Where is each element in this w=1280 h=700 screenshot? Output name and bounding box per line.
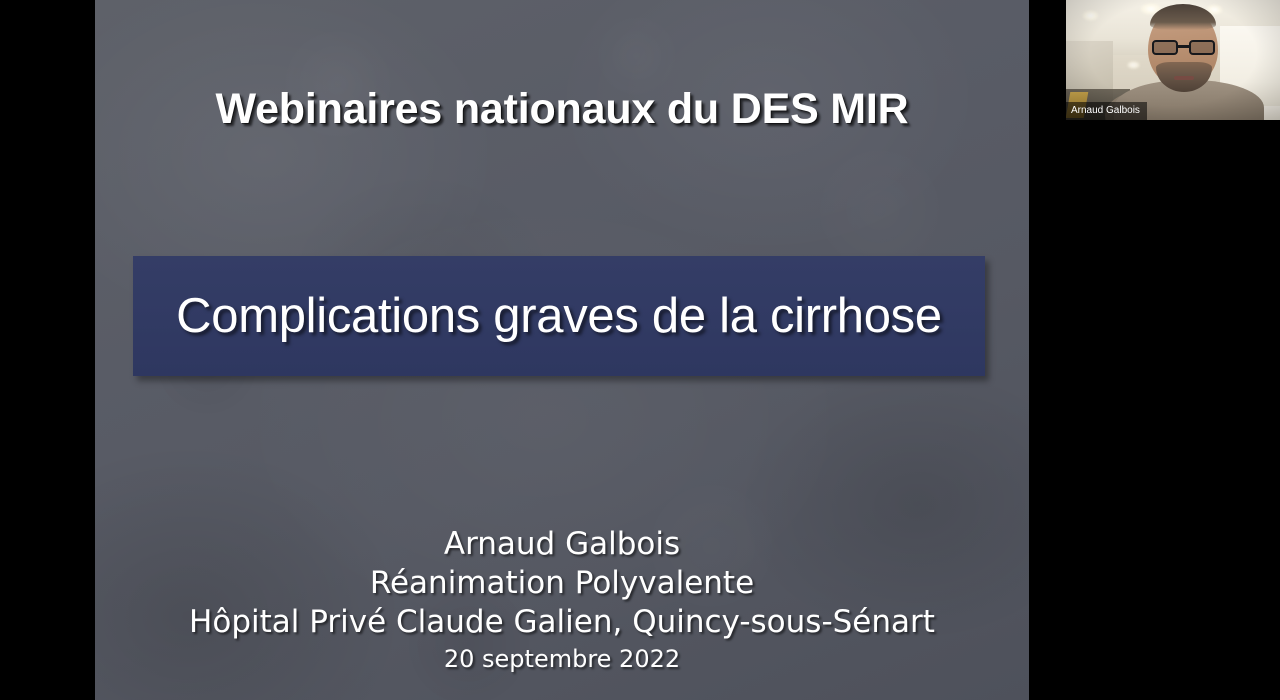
participant-video-tile[interactable]: Arnaud Galbois <box>1066 0 1280 120</box>
author-institution: Hôpital Privé Claude Galien, Quincy-sous… <box>95 607 1029 638</box>
glasses-icon <box>1152 40 1215 55</box>
glasses-lens-right <box>1189 40 1215 55</box>
ceiling-light-icon <box>1082 10 1099 21</box>
screen-share-view: Webinaires nationaux du DES MIR Complica… <box>0 0 1280 700</box>
author-department: Réanimation Polyvalente <box>95 568 1029 599</box>
presentation-date: 20 septembre 2022 <box>95 647 1029 671</box>
slide-heading: Webinaires nationaux du DES MIR <box>95 85 1029 134</box>
author-block: Arnaud Galbois Réanimation Polyvalente H… <box>95 529 1029 671</box>
slide-title: Complications graves de la cirrhose <box>176 288 942 344</box>
ceiling-light-icon <box>1127 61 1140 69</box>
participant-name-label: Arnaud Galbois <box>1066 102 1147 120</box>
author-name: Arnaud Galbois <box>95 529 1029 560</box>
glasses-bridge <box>1178 45 1189 48</box>
presentation-slide: Webinaires nationaux du DES MIR Complica… <box>95 0 1029 700</box>
webcam-person-mouth <box>1174 76 1194 80</box>
letterbox-left <box>0 0 95 700</box>
glasses-lens-left <box>1152 40 1178 55</box>
slide-title-band: Complications graves de la cirrhose <box>133 256 985 376</box>
